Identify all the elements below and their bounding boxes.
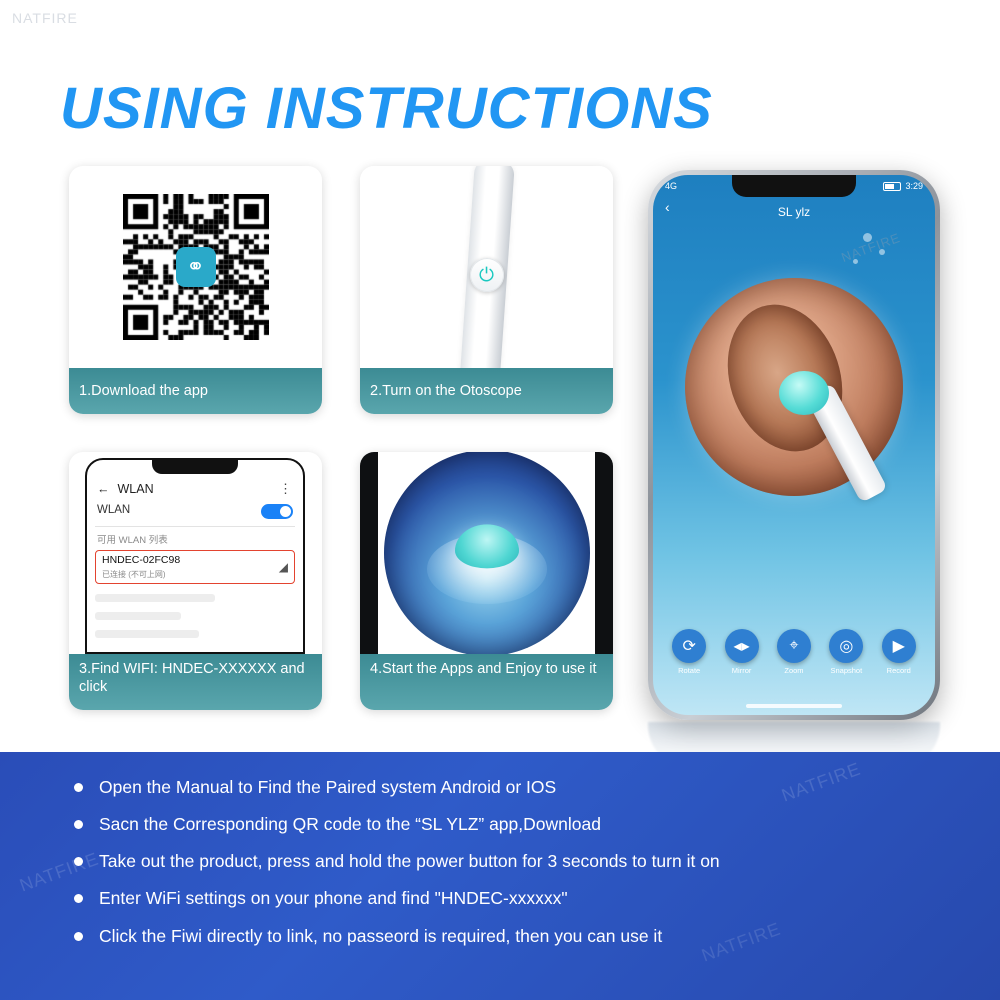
back-chevron-icon[interactable]: ‹ (665, 199, 670, 215)
toolbar-button-mirror[interactable]: ◂▸ Mirror (718, 629, 766, 675)
phone-mockup: 4G 3:29 ‹ SL ylz ⟳ Rotate ◂▸ Mirror (648, 170, 940, 720)
toolbar-button-rotate[interactable]: ⟳ Rotate (665, 629, 713, 675)
letterbox-right (595, 452, 613, 654)
signal-label: 4G (665, 181, 677, 191)
step-card-download-app: ⚭ 1.Download the app (69, 166, 322, 414)
instruction-text: Take out the product, press and hold the… (99, 850, 720, 874)
phone-notch (732, 175, 856, 197)
probe-tip (779, 371, 829, 415)
bullet-icon (74, 894, 83, 903)
wlan-toggle-switch[interactable] (261, 504, 293, 519)
back-arrow-icon[interactable]: ← (97, 482, 110, 496)
toolbar-label-snapshot: Snapshot (822, 666, 870, 675)
power-button[interactable]: ⏻ (470, 258, 504, 292)
bubble-decor (863, 233, 872, 242)
camera-icon: ◎ (829, 629, 863, 663)
rotate-icon: ⟳ (672, 629, 706, 663)
instruction-text: Enter WiFi settings on your phone and fi… (99, 887, 568, 911)
wlan-network-item[interactable]: HNDEC-02FC98 已连接 (不可上网) ◢ (95, 550, 295, 584)
wlan-screenshot-area: ← WLAN ⋮ WLAN 可用 WLAN 列表 HNDEC-02FC98 已连… (69, 452, 322, 654)
more-options-icon[interactable]: ⋮ (279, 481, 293, 497)
brand-watermark-top: NATFIRE (12, 10, 78, 26)
otoscope-illustration: ⏻ (360, 166, 613, 368)
toolbar-label-rotate: Rotate (665, 666, 713, 675)
toolbar-button-snapshot[interactable]: ◎ Snapshot (822, 629, 870, 675)
letterbox-left (360, 452, 378, 654)
zoom-icon: ⌖ (777, 629, 811, 663)
page-title: USING INSTRUCTIONS (60, 75, 713, 142)
wlan-ghost-row (95, 630, 199, 638)
battery-icon (883, 182, 901, 191)
list-item: Open the Manual to Find the Paired syste… (74, 776, 970, 800)
bullet-icon (74, 857, 83, 866)
instruction-list: Open the Manual to Find the Paired syste… (74, 776, 970, 962)
wlan-toggle-label: WLAN (97, 504, 130, 516)
divider (95, 526, 295, 527)
wlan-ghost-row (95, 612, 181, 620)
step-caption-1: 1.Download the app (69, 368, 322, 414)
power-icon: ⏻ (479, 266, 494, 285)
wlan-network-status: 已连接 (不可上网) (102, 569, 166, 580)
step-caption-4: 4.Start the Apps and Enjoy to use it (360, 654, 613, 710)
list-item: Click the Fiwi directly to link, no pass… (74, 925, 970, 949)
instructions-panel: NATFIRE NATFIRE NATFIRE Open the Manual … (0, 752, 1000, 1000)
app-toolbar: ⟳ Rotate ◂▸ Mirror ⌖ Zoom ◎ Snapshot ▶ R… (653, 629, 935, 689)
list-item: Sacn the Corresponding QR code to the “S… (74, 813, 970, 837)
wlan-navbar: ← WLAN ⋮ (87, 476, 303, 502)
mirror-icon: ◂▸ (725, 629, 759, 663)
wlan-ghost-row (95, 594, 215, 602)
bullet-icon (74, 820, 83, 829)
scope-vignette (384, 452, 590, 654)
wifi-signal-icon: ◢ (279, 560, 288, 574)
phone-notch (152, 460, 238, 474)
home-indicator (746, 704, 842, 708)
otoscope-logo-icon: ⚭ (176, 247, 216, 287)
toolbar-label-zoom: Zoom (770, 666, 818, 675)
toolbar-button-record[interactable]: ▶ Record (875, 629, 923, 675)
wlan-list-header: 可用 WLAN 列表 (97, 532, 168, 546)
phone-screen: 4G 3:29 ‹ SL ylz ⟳ Rotate ◂▸ Mirror (653, 175, 935, 715)
step-card-find-wifi: ← WLAN ⋮ WLAN 可用 WLAN 列表 HNDEC-02FC98 已连… (69, 452, 322, 710)
step-card-turn-on: ⏻ 2.Turn on the Otoscope (360, 166, 613, 414)
list-item: Enter WiFi settings on your phone and fi… (74, 887, 970, 911)
wlan-network-ssid: HNDEC-02FC98 (102, 554, 180, 566)
instruction-text: Sacn the Corresponding QR code to the “S… (99, 813, 601, 837)
bubble-decor (853, 259, 858, 264)
list-item: Take out the product, press and hold the… (74, 850, 970, 874)
qr-code-image[interactable]: ⚭ (123, 194, 269, 340)
toolbar-label-mirror: Mirror (718, 666, 766, 675)
toolbar-label-record: Record (875, 666, 923, 675)
bubble-decor (879, 249, 885, 255)
bullet-icon (74, 932, 83, 941)
scope-view-area (360, 452, 613, 654)
instruction-text: Open the Manual to Find the Paired syste… (99, 776, 556, 800)
step-caption-2: 2.Turn on the Otoscope (360, 368, 613, 414)
instruction-text: Click the Fiwi directly to link, no pass… (99, 925, 662, 949)
qr-code-area: ⚭ (69, 166, 322, 368)
app-title: SL ylz (653, 199, 935, 225)
step-caption-3: 3.Find WIFI: HNDEC-XXXXXX and click (69, 654, 322, 710)
bullet-icon (74, 783, 83, 792)
step-card-start-app: 4.Start the Apps and Enjoy to use it (360, 452, 613, 710)
toolbar-button-zoom[interactable]: ⌖ Zoom (770, 629, 818, 675)
wlan-screen-title: WLAN (118, 482, 154, 496)
video-icon: ▶ (882, 629, 916, 663)
status-time: 3:29 (905, 181, 923, 191)
